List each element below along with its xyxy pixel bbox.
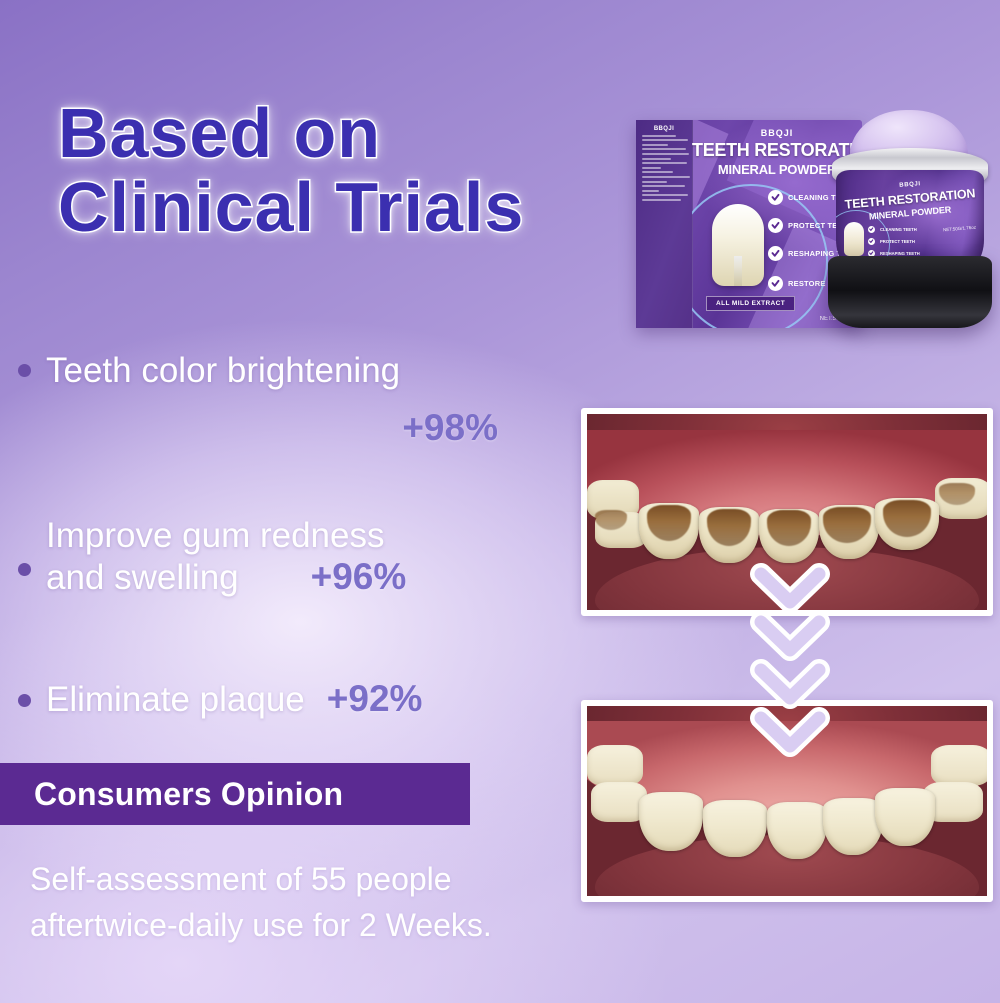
benefit-percent: +96% xyxy=(311,556,407,598)
consumers-opinion-banner: Consumers Opinion xyxy=(0,763,470,825)
checkmark-icon xyxy=(768,218,783,233)
box-side-copy-line xyxy=(642,144,668,146)
benefit-label-line-1: Improve gum redness xyxy=(46,515,560,556)
benefit-percent: +92% xyxy=(327,678,423,720)
benefit-percent: +98% xyxy=(46,407,560,449)
benefit-label: Teeth color brightening xyxy=(46,350,560,391)
benefits-list: Teeth color brightening +98% Improve gum… xyxy=(0,342,560,720)
benefit-item-plaque: Eliminate plaque +92% xyxy=(0,678,560,720)
box-side-copy-line xyxy=(642,199,681,201)
footer-note: Self-assessment of 55 people aftertwice-… xyxy=(30,856,590,948)
box-side-copy-line xyxy=(642,148,686,150)
before-photo xyxy=(581,408,993,616)
bullet-dot-icon xyxy=(18,563,31,576)
bullet-dot-icon xyxy=(18,694,31,707)
jar-net-weight: NET:50G/1.76oz xyxy=(943,225,976,233)
benefit-label: Eliminate plaque xyxy=(46,679,305,720)
product-image-group: BBQJI BBQJI TEETH RESTORATION MINERAL PO… xyxy=(628,104,1000,344)
jar-base xyxy=(828,256,992,328)
incisor-tooth xyxy=(703,800,767,857)
box-side-copy-line xyxy=(642,185,685,187)
product-box-side-panel: BBQJI xyxy=(636,120,693,328)
box-side-copy-line xyxy=(642,139,688,141)
checkmark-icon xyxy=(868,238,875,245)
banner-title: Consumers Opinion xyxy=(0,776,343,813)
footer-line-2: aftertwice-daily use for 2 Weeks. xyxy=(30,902,590,948)
incisor-tooth xyxy=(767,802,827,859)
chevron-down-icon xyxy=(745,608,835,670)
product-infographic-poster: Based on Clinical Trials BBQJI xyxy=(0,0,1000,1003)
incisor-tooth xyxy=(823,798,883,855)
box-side-copy-line xyxy=(642,181,667,183)
box-side-copy-line xyxy=(642,167,661,169)
incisor-tooth xyxy=(639,792,703,851)
incisor-tooth xyxy=(875,788,935,845)
after-photo xyxy=(581,700,993,902)
benefit-item-gum-health: Improve gum redness and swelling +96% xyxy=(0,515,560,598)
tooth-illustration xyxy=(712,204,764,286)
benefit-item-brightening: Teeth color brightening +98% xyxy=(0,350,560,449)
headline-line-1: Based on xyxy=(38,96,678,170)
molar-tooth xyxy=(587,745,643,786)
box-side-copy-line xyxy=(642,171,673,173)
box-side-copy-line xyxy=(642,162,687,164)
box-badge: ALL MILD EXTRACT xyxy=(706,296,795,311)
molar-tooth xyxy=(931,745,991,786)
checkmark-icon xyxy=(768,276,783,291)
jar-feature-label: PROTECT TEETH xyxy=(880,239,915,244)
jar-feature-label: CLEANING TEETH xyxy=(880,227,917,232)
page-title: Based on Clinical Trials xyxy=(38,96,678,244)
footer-line-1: Self-assessment of 55 people xyxy=(30,856,590,902)
checkmark-icon xyxy=(768,190,783,205)
benefit-label-line-2: and swelling xyxy=(46,557,239,598)
jar-tooth-illustration xyxy=(844,222,864,256)
product-jar: BBQJI TEETH RESTORATION MINERAL POWDER C… xyxy=(820,104,1000,340)
before-photo-content xyxy=(587,414,987,610)
box-side-copy-line xyxy=(642,190,659,192)
after-photo-content xyxy=(587,706,987,896)
box-side-copy-line xyxy=(642,176,690,178)
checkmark-icon xyxy=(868,226,875,233)
box-side-copy-line xyxy=(642,153,689,155)
checkmark-icon xyxy=(768,246,783,261)
box-side-copy-line xyxy=(642,158,671,160)
teeth-row xyxy=(587,774,987,873)
box-side-copy-line xyxy=(642,135,676,137)
box-side-brand: BBQJI xyxy=(636,126,692,132)
bullet-dot-icon xyxy=(18,364,31,377)
teeth-row xyxy=(587,492,987,582)
box-side-copy-line xyxy=(642,194,688,196)
headline-line-2: Clinical Trials xyxy=(38,170,678,244)
